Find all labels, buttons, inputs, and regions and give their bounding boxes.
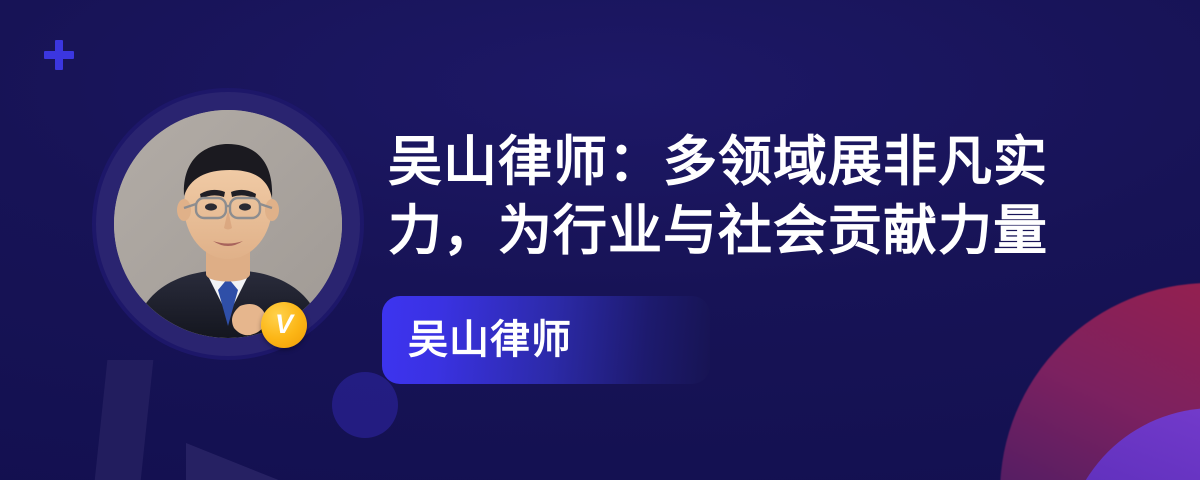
decorative-blue-dot [332, 372, 398, 438]
avatar-photo [114, 110, 342, 338]
verified-badge-label: V [275, 311, 293, 338]
avatar: V [96, 92, 360, 356]
lawyer-name-badge: 吴山律师 [382, 296, 710, 384]
banner-headline: 吴山律师：多领域展非凡实力，为行业与社会贡献力量 [388, 128, 1088, 266]
plus-icon [44, 40, 74, 70]
avatar-portrait-illustration [114, 110, 342, 338]
lawyer-name-badge-label: 吴山律师 [408, 320, 572, 360]
lawyer-promo-banner: V 吴山律师 吴山律师：多领域展非凡实力，为行业与社会贡献力量 [0, 0, 1200, 480]
verified-badge-icon: V [261, 302, 307, 348]
